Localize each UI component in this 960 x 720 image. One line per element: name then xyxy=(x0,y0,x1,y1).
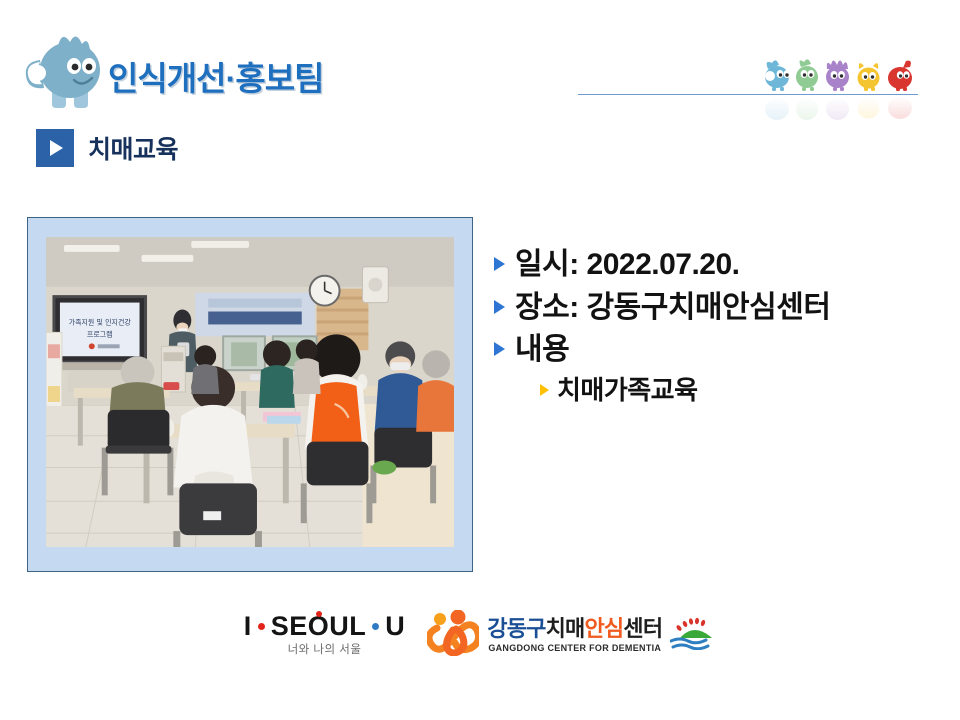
iseoulu-word-seoul: SEOUL xyxy=(271,613,367,640)
slide-canvas: 인식개선·홍보팀 xyxy=(0,0,960,720)
gangdong-korean-name: 강동구치매안심센터 xyxy=(487,618,662,640)
photo-frame: 가족지원 및 인지건강 프로그램 xyxy=(27,217,473,572)
classroom-photo: 가족지원 및 인지건강 프로그램 xyxy=(46,237,454,547)
blue-triangle-bullet-icon xyxy=(494,257,505,271)
gangdong-part2: 치매 xyxy=(546,616,585,641)
bullet-text: 치매가족교육 xyxy=(557,374,698,407)
gangdong-hill-wave-emblem-icon xyxy=(670,616,716,655)
mini-mascot-row-reflection xyxy=(762,97,922,131)
i-seoul-u-wordmark: I SEOUL U xyxy=(244,613,406,640)
i-seoul-u-logo: I SEOUL U 너와 나의 서울 xyxy=(244,613,406,657)
header-divider-line xyxy=(578,94,918,95)
gangdong-part4: 센터 xyxy=(623,616,662,641)
svg-text:가족지원 및 인지건강: 가족지원 및 인지건강 xyxy=(69,317,132,326)
bullet-text: 장소: 강동구치매안심센터 xyxy=(515,289,830,327)
bullet-item-subcontent: 치매가족교육 xyxy=(540,374,944,407)
mini-mascot-row xyxy=(762,55,922,93)
bullet-item-date: 일시: 2022.07.20. xyxy=(494,246,944,284)
bullet-text: 내용 xyxy=(515,331,569,369)
iseoulu-letter-u: U xyxy=(385,613,405,640)
footer-logos: I SEOUL U 너와 나의 서울 xyxy=(0,602,960,668)
bullet-item-content: 내용 xyxy=(494,331,944,369)
gangdong-english-name: GANGDONG CENTER FOR DEMENTIA xyxy=(487,644,662,653)
iseoulu-letter-i: I xyxy=(244,613,252,640)
blue-triangle-bullet-icon xyxy=(494,300,505,314)
play-triangle-icon xyxy=(36,129,74,167)
gangdong-center-logo: 강동구치매안심센터 GANGDONG CENTER FOR DEMENTIA xyxy=(427,610,716,661)
orange-infinity-people-icon xyxy=(427,610,479,661)
blue-dot-icon xyxy=(372,623,379,630)
section-heading: 치매교육 xyxy=(36,129,178,167)
gangdong-part3: 안심 xyxy=(584,616,623,641)
bullet-list: 일시: 2022.07.20. 장소: 강동구치매안심센터 내용 치매가족교육 xyxy=(494,246,944,411)
gangdong-part1: 강동구 xyxy=(487,616,545,641)
section-title-label: 치매교육 xyxy=(88,130,178,166)
blue-triangle-bullet-icon xyxy=(494,342,505,356)
svg-text:프로그램: 프로그램 xyxy=(87,330,113,338)
page-title: 인식개선·홍보팀 xyxy=(108,52,324,100)
seoul-tagline: 너와 나의 서울 xyxy=(288,645,362,657)
bullet-item-place: 장소: 강동구치매안심센터 xyxy=(494,289,944,327)
blue-mascot-character-icon xyxy=(18,28,110,114)
red-accent-dot-icon xyxy=(316,611,322,617)
gangdong-logo-text: 강동구치매안심센터 GANGDONG CENTER FOR DEMENTIA xyxy=(487,618,662,653)
yellow-triangle-bullet-icon xyxy=(540,384,549,396)
bullet-text: 일시: 2022.07.20. xyxy=(515,246,740,284)
red-dot-icon xyxy=(258,623,265,630)
